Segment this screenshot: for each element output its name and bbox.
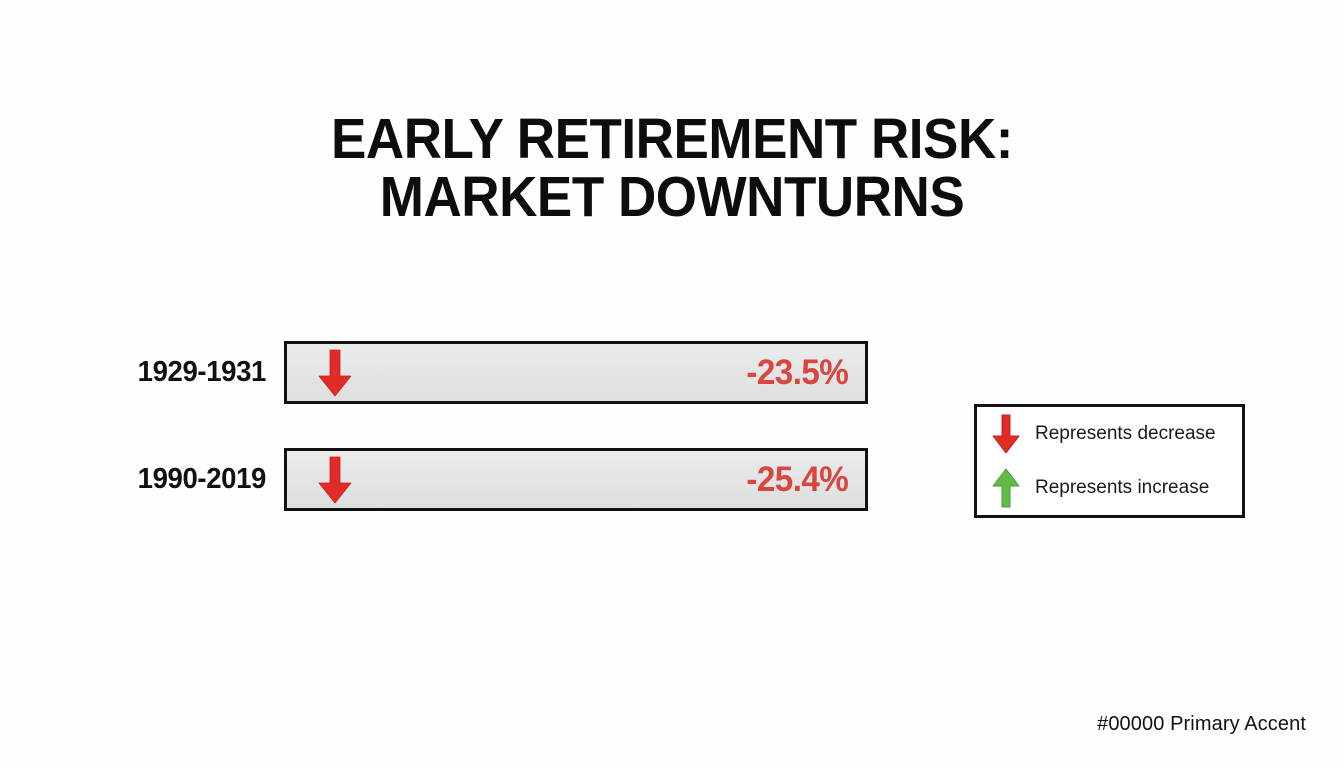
- legend-label-increase: Represents increase: [1035, 477, 1209, 499]
- legend-item-decrease: Represents decrease: [991, 413, 1242, 455]
- arrow-up-icon: [991, 467, 1021, 509]
- arrow-down-icon: [317, 348, 353, 398]
- bar-value-label: -25.4%: [746, 462, 848, 497]
- bar-category-label: 1990-2019: [13, 448, 266, 511]
- bar-track: -23.5%: [284, 341, 868, 404]
- bar-value-label: -23.5%: [746, 355, 848, 390]
- bar-track: -25.4%: [284, 448, 868, 511]
- page-title-line-2: MARKET DOWNTURNS: [47, 168, 1297, 226]
- legend-item-increase: Represents increase: [991, 467, 1242, 509]
- bar-category-label: 1929-1931: [13, 341, 266, 404]
- chart-legend: Represents decrease Represents increase: [974, 404, 1245, 518]
- chart-row: 1929-1931 -23.5%: [0, 341, 1344, 404]
- arrow-down-icon: [317, 455, 353, 505]
- arrow-down-icon: [991, 413, 1021, 455]
- page-title-line-1: EARLY RETIREMENT RISK:: [47, 110, 1297, 168]
- legend-label-decrease: Represents decrease: [1035, 423, 1216, 445]
- page-title: EARLY RETIREMENT RISK: MARKET DOWNTURNS: [47, 110, 1297, 226]
- footer-accent-note: #00000 Primary Accent: [1097, 713, 1306, 736]
